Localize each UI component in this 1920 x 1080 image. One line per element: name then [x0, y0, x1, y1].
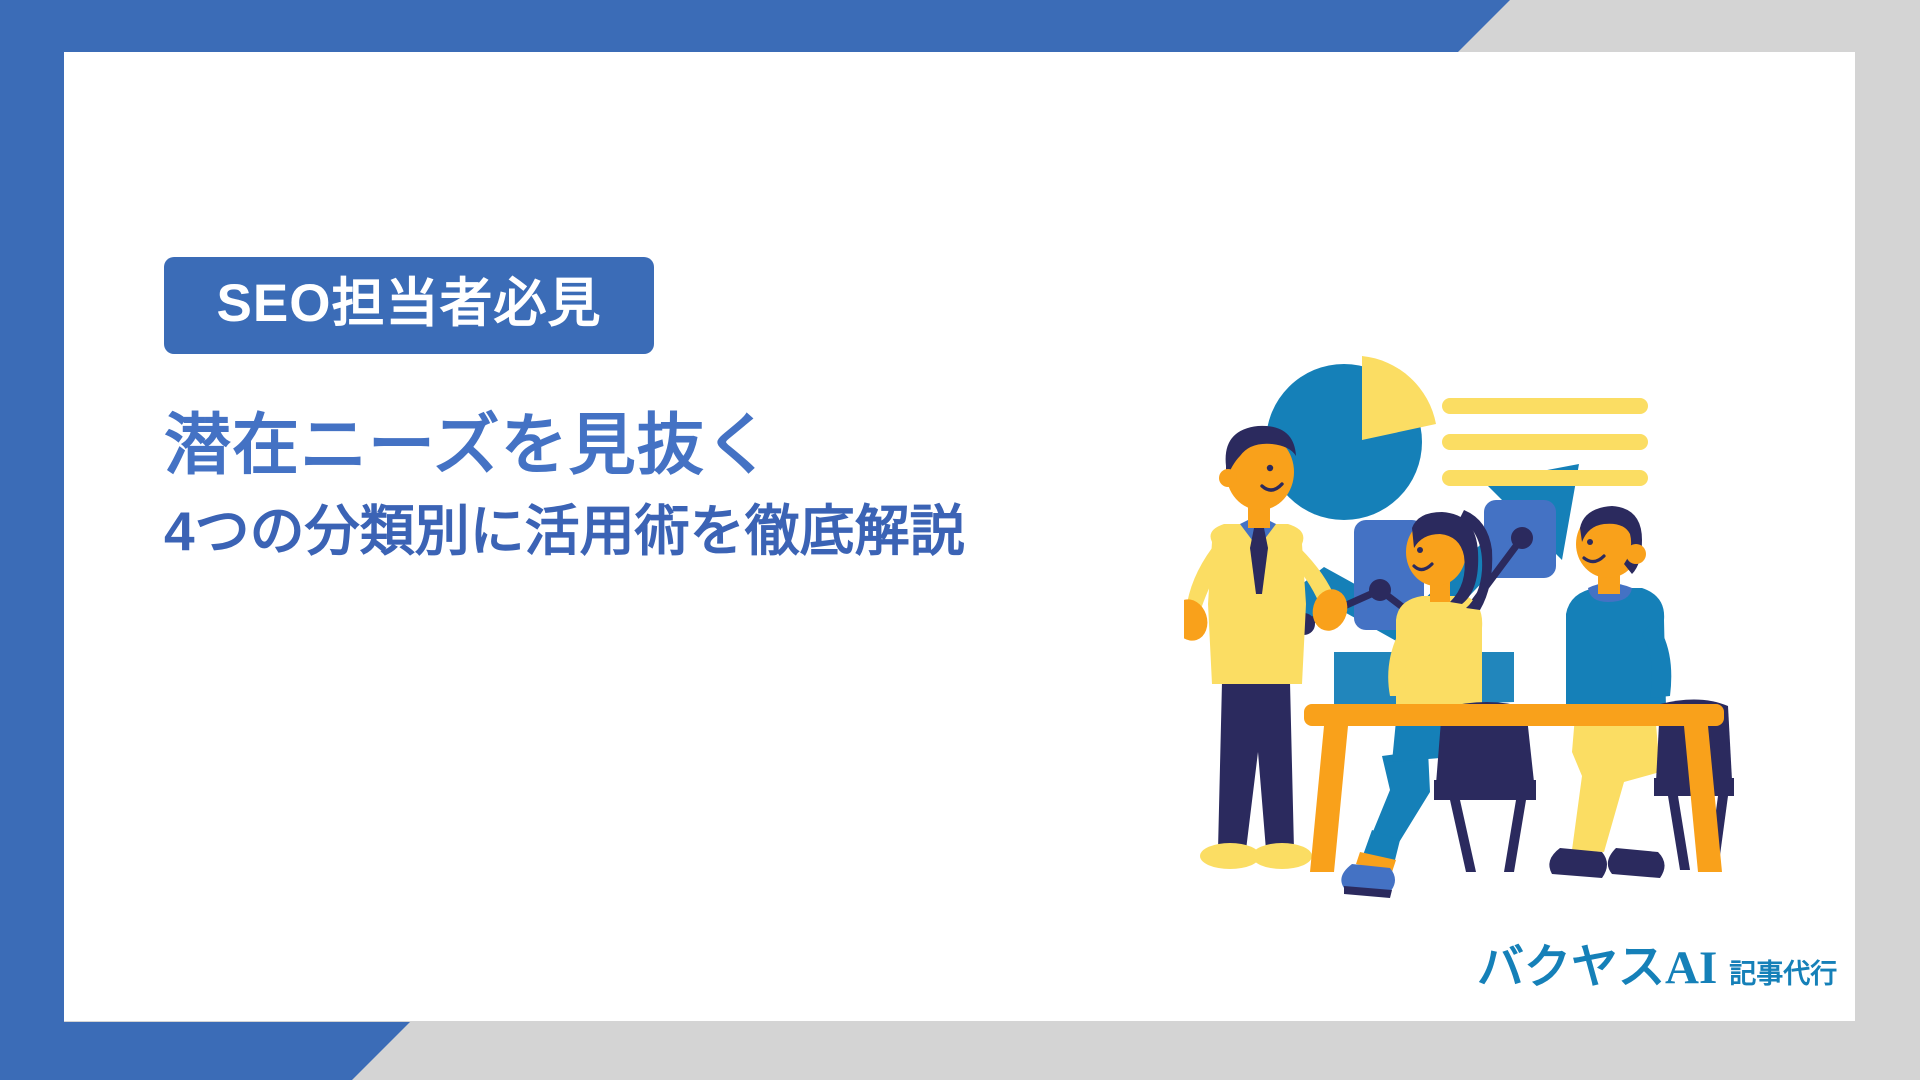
- page-title: 潜在ニーズを見抜く: [164, 408, 1164, 483]
- text-column: SEO担当者必見 潜在ニーズを見抜く 4つの分類別に活用術を徹底解説: [164, 257, 1164, 563]
- bottom-accent-band: [0, 1022, 410, 1080]
- brand-name: バクヤスAI: [1477, 945, 1717, 992]
- page-subtitle: 4つの分類別に活用術を徹底解説: [164, 501, 1164, 563]
- pie-chart-icon: [1266, 356, 1436, 520]
- seated-man-figure: [1549, 506, 1671, 878]
- hero-illustration: [1184, 352, 1824, 912]
- brand-logo: バクヤスAI 記事代行: [1477, 945, 1837, 992]
- left-accent-band: [0, 0, 64, 1080]
- category-badge-label: SEO担当者必見: [208, 277, 610, 330]
- content-card: SEO担当者必見 潜在ニーズを見抜く 4つの分類別に活用術を徹底解説: [64, 52, 1855, 1021]
- brand-service-label: 記事代行: [1729, 961, 1837, 988]
- category-badge: SEO担当者必見: [164, 257, 654, 354]
- top-accent-band: [0, 0, 1510, 52]
- thumbnail-canvas: SEO担当者必見 潜在ニーズを見抜く 4つの分類別に活用術を徹底解説: [0, 0, 1920, 1080]
- text-bars-icon: [1442, 398, 1648, 486]
